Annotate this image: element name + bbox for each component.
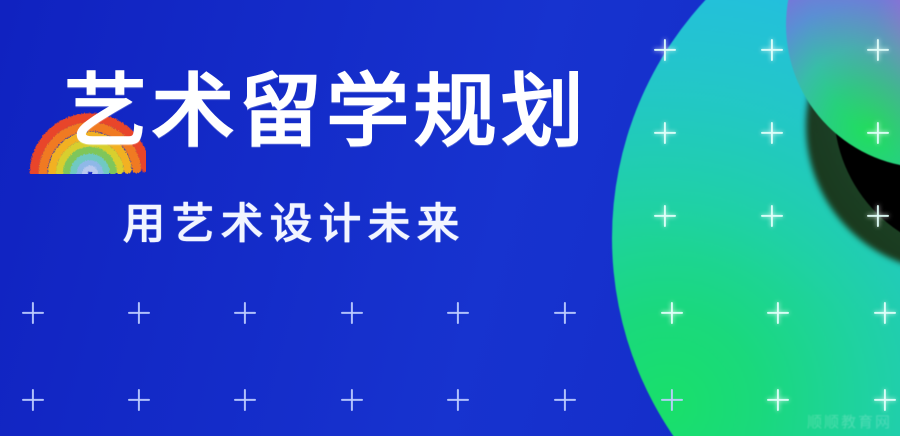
plus-cross-icon [447,389,469,411]
watermark-text: 顺顺教育网 [807,411,892,432]
plus-cross-icon [128,302,150,324]
plus-cross-icon [22,389,44,411]
plus-cross-icon [761,205,783,227]
plus-cross-icon [128,389,150,411]
plus-cross-icon [554,302,576,324]
plus-cross-icon [554,389,576,411]
promo-banner: 艺术留学规划 用艺术设计未来 顺顺教育网 [0,0,900,436]
plus-cross-icon [447,302,469,324]
plus-cross-icon [654,39,676,61]
plus-cross-icon [761,39,783,61]
plus-cross-icon [661,389,683,411]
plus-cross-icon [874,302,896,324]
plus-cross-icon [654,122,676,144]
plus-cross-icon [767,302,789,324]
plus-cross-icon [767,389,789,411]
plus-cross-icon [234,302,256,324]
plus-cross-icon [761,122,783,144]
plus-cross-icon [341,389,363,411]
plus-cross-icon [661,302,683,324]
plus-cross-icon [234,389,256,411]
plus-cross-icon [654,205,676,227]
plus-cross-icon [874,389,896,411]
plus-cross-icon [867,39,889,61]
plus-cross-icon [341,302,363,324]
plus-cross-icon [22,302,44,324]
plus-cross-icon [867,122,889,144]
plus-cross-icon [867,205,889,227]
rainbow-arc-icon [28,82,146,174]
